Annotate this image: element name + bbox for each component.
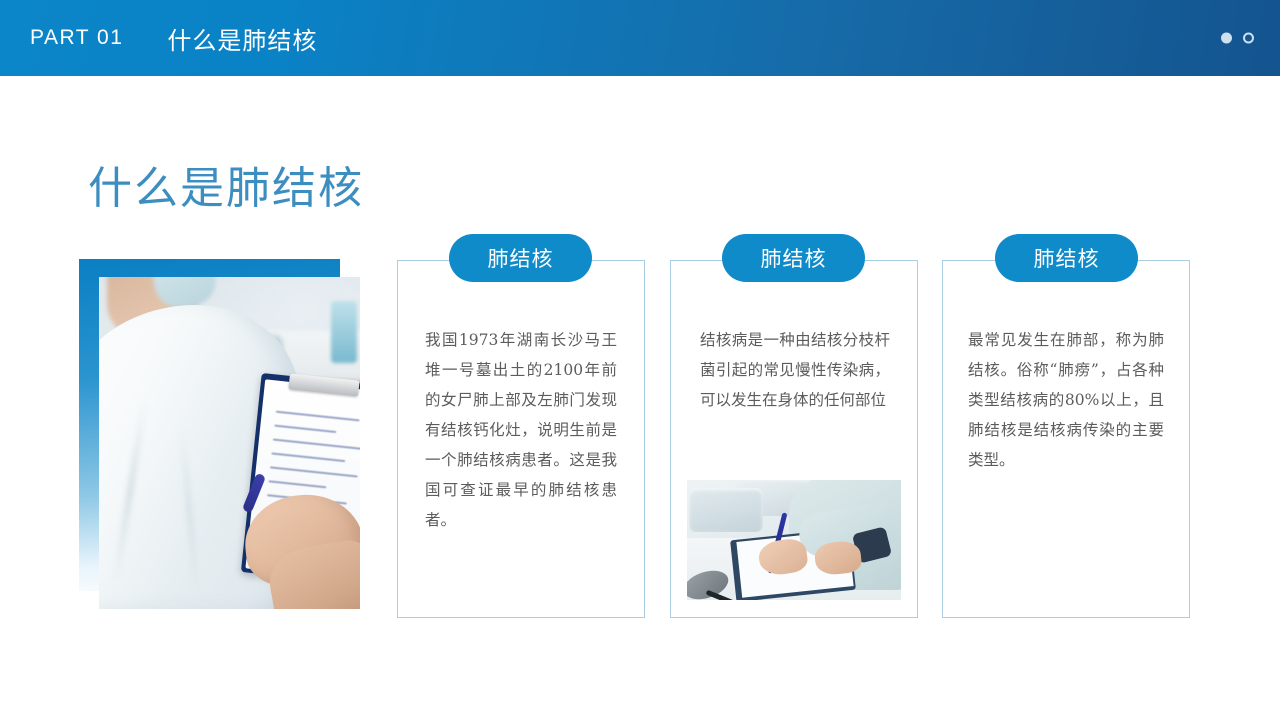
card-2-badge: 肺结核 xyxy=(722,234,865,282)
page-title: 什么是肺结核 xyxy=(88,152,364,216)
photo-handwriting-line xyxy=(276,411,360,422)
card-1-badge: 肺结核 xyxy=(449,234,592,282)
card2-tray xyxy=(689,488,763,532)
pagination-dot-inactive-icon[interactable] xyxy=(1243,33,1254,44)
photo-handwriting-line xyxy=(273,438,360,449)
left-photo-block xyxy=(79,259,360,609)
card-3-badge: 肺结核 xyxy=(995,234,1138,282)
header-part-label: PART 01 xyxy=(30,26,123,50)
photo-handwriting-line xyxy=(269,480,327,488)
pagination-dot-active-icon[interactable] xyxy=(1221,33,1232,44)
slide-header: PART 01 什么是肺结核 xyxy=(0,0,1280,76)
photo-handwriting-line xyxy=(274,425,336,433)
card-3-body-text: 最常见发生在肺部，称为肺结核。俗称“肺痨”，占各种类型结核病的80%以上，且肺结… xyxy=(968,325,1164,475)
doctor-clipboard-photo xyxy=(99,277,360,609)
header-pagination-dots[interactable] xyxy=(1221,33,1254,44)
card-1-body-text: 我国1973年湖南长沙马王堆一号墓出土的2100年前的女尸肺上部及左肺门发现有结… xyxy=(425,325,617,535)
header-section-title: 什么是肺结核 xyxy=(167,21,317,56)
photo-bottle xyxy=(331,301,357,363)
card-2-body-text: 结核病是一种由结核分枝杆菌引起的常见慢性传染病，可以发生在身体的任何部位 xyxy=(700,325,890,415)
slide: PART 01 什么是肺结核 什么是肺结核 xyxy=(0,0,1280,720)
photo-handwriting-line xyxy=(271,452,345,462)
photo-handwriting-line xyxy=(270,466,358,477)
clipboard-writing-photo xyxy=(687,480,901,600)
